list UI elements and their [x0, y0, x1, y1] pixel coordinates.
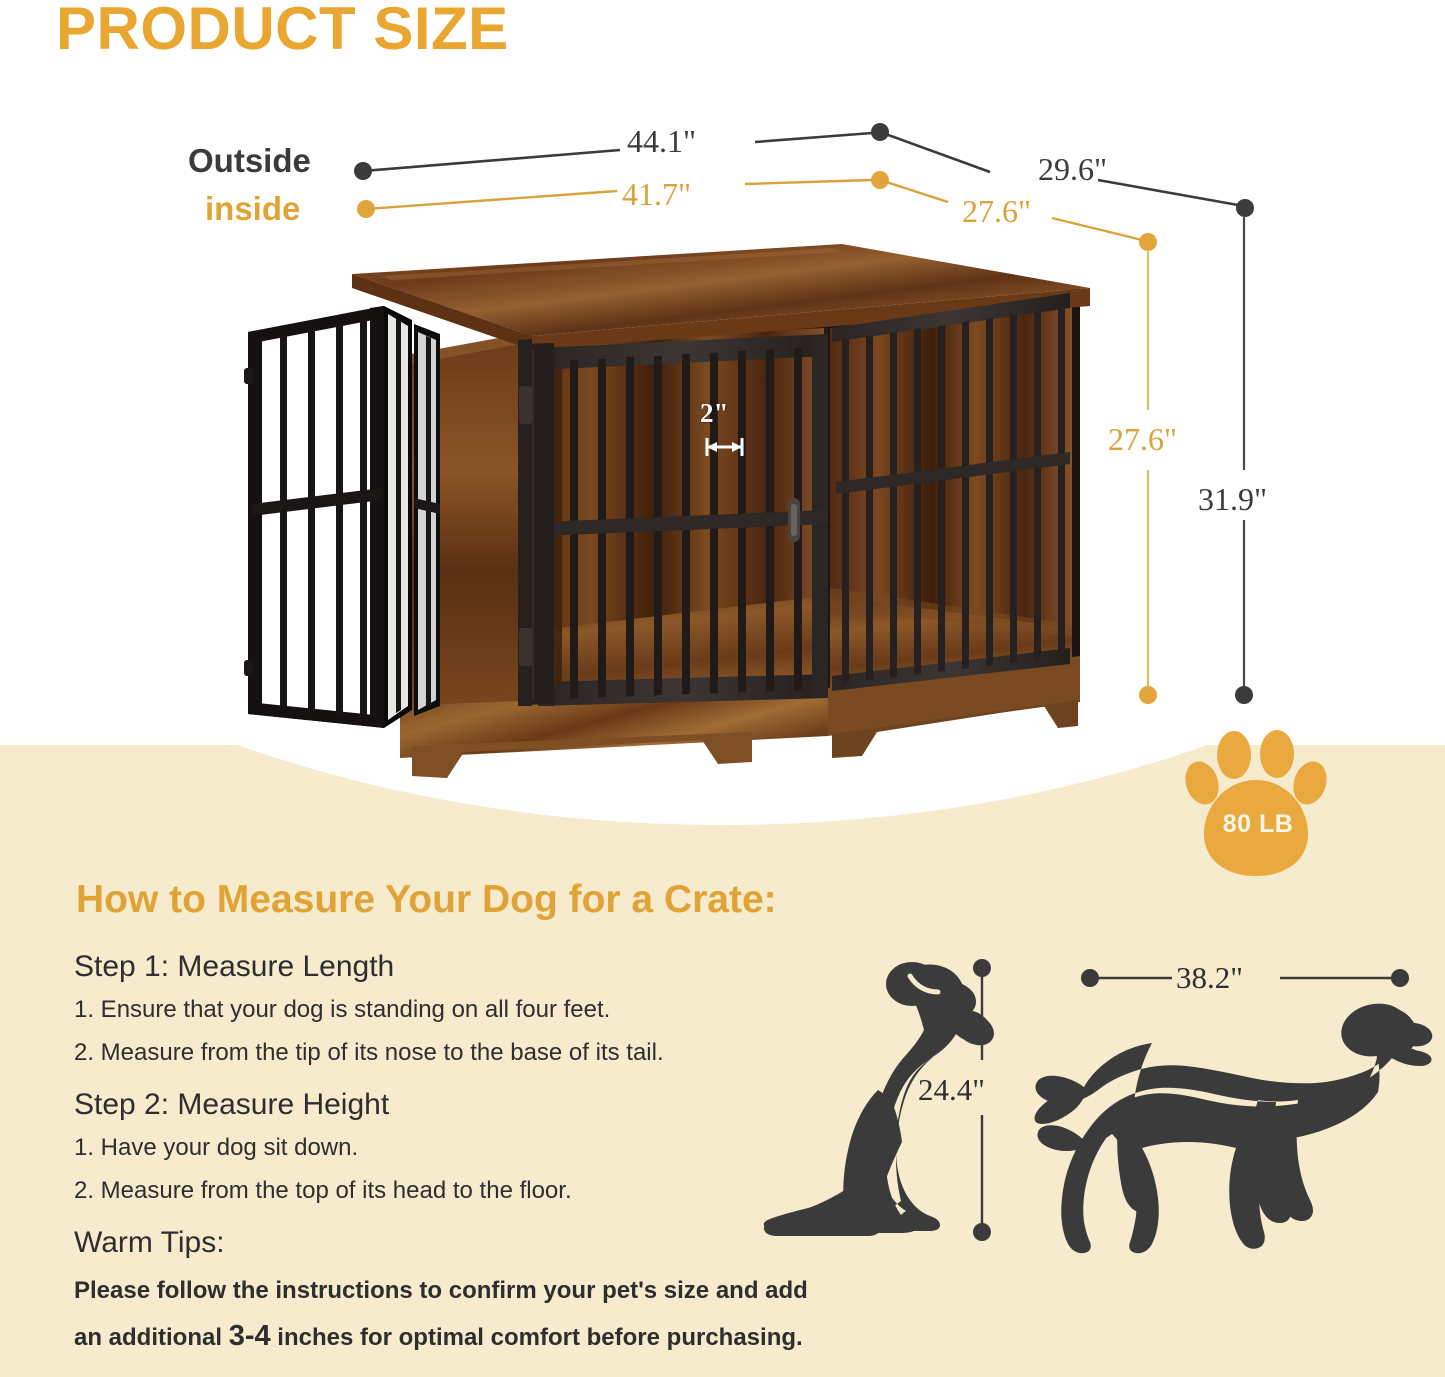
page-title: PRODUCT SIZE	[56, 0, 509, 63]
warm-tips-line-2: an additional 3-4 inches for optimal com…	[74, 1320, 803, 1353]
step2-line-1: 1. Have your dog sit down.	[74, 1134, 358, 1162]
leader-41-7	[357, 171, 889, 218]
infographic-canvas: PRODUCT SIZE Outside inside	[0, 0, 1445, 1377]
dim-text-inside-width: 41.7"	[622, 176, 691, 212]
step1-line-2: 2. Measure from the tip of its nose to t…	[74, 1039, 664, 1067]
step2-heading: Step 2: Measure Height	[74, 1088, 389, 1122]
dim-text-standing-length: 38.2"	[1176, 960, 1243, 995]
leader-44-1	[354, 123, 889, 180]
bar-spacing-label: 2"	[700, 398, 729, 429]
leader-29-6	[880, 132, 1254, 217]
step2-line-2: 2. Measure from the top of its head to t…	[74, 1177, 572, 1205]
dog-measurement-diagram: 24.4" 38.2"	[760, 940, 1445, 1310]
tips-line2-emphasis: 3-4	[229, 1320, 271, 1352]
warm-tips-line-1: Please follow the instructions to confir…	[74, 1277, 808, 1305]
howto-title: How to Measure Your Dog for a Crate:	[76, 878, 777, 922]
step1-heading: Step 1: Measure Length	[74, 950, 394, 984]
legend-label-inside: inside	[205, 190, 300, 228]
dim-text-inside-depth: 27.6"	[962, 193, 1031, 229]
tips-line2-pre: an additional	[74, 1324, 229, 1351]
weight-capacity-label: 80 LB	[1182, 810, 1334, 839]
paw-icon	[1182, 728, 1334, 880]
dim-text-sitting-height: 24.4"	[918, 1072, 985, 1107]
legend-label-outside: Outside	[188, 142, 311, 180]
dim-text-outside-depth: 29.6"	[1038, 151, 1107, 187]
dim-text-outside-width: 44.1"	[627, 123, 696, 159]
standing-dog-silhouette	[1035, 997, 1433, 1253]
step1-line-1: 1. Ensure that your dog is standing on a…	[74, 996, 610, 1024]
dog-crate-product-image	[232, 236, 1092, 781]
tips-line2-post: inches for optimal comfort before purcha…	[271, 1324, 803, 1351]
warm-tips-heading: Warm Tips:	[74, 1226, 225, 1260]
dim-standing-length: 38.2"	[1081, 960, 1409, 995]
